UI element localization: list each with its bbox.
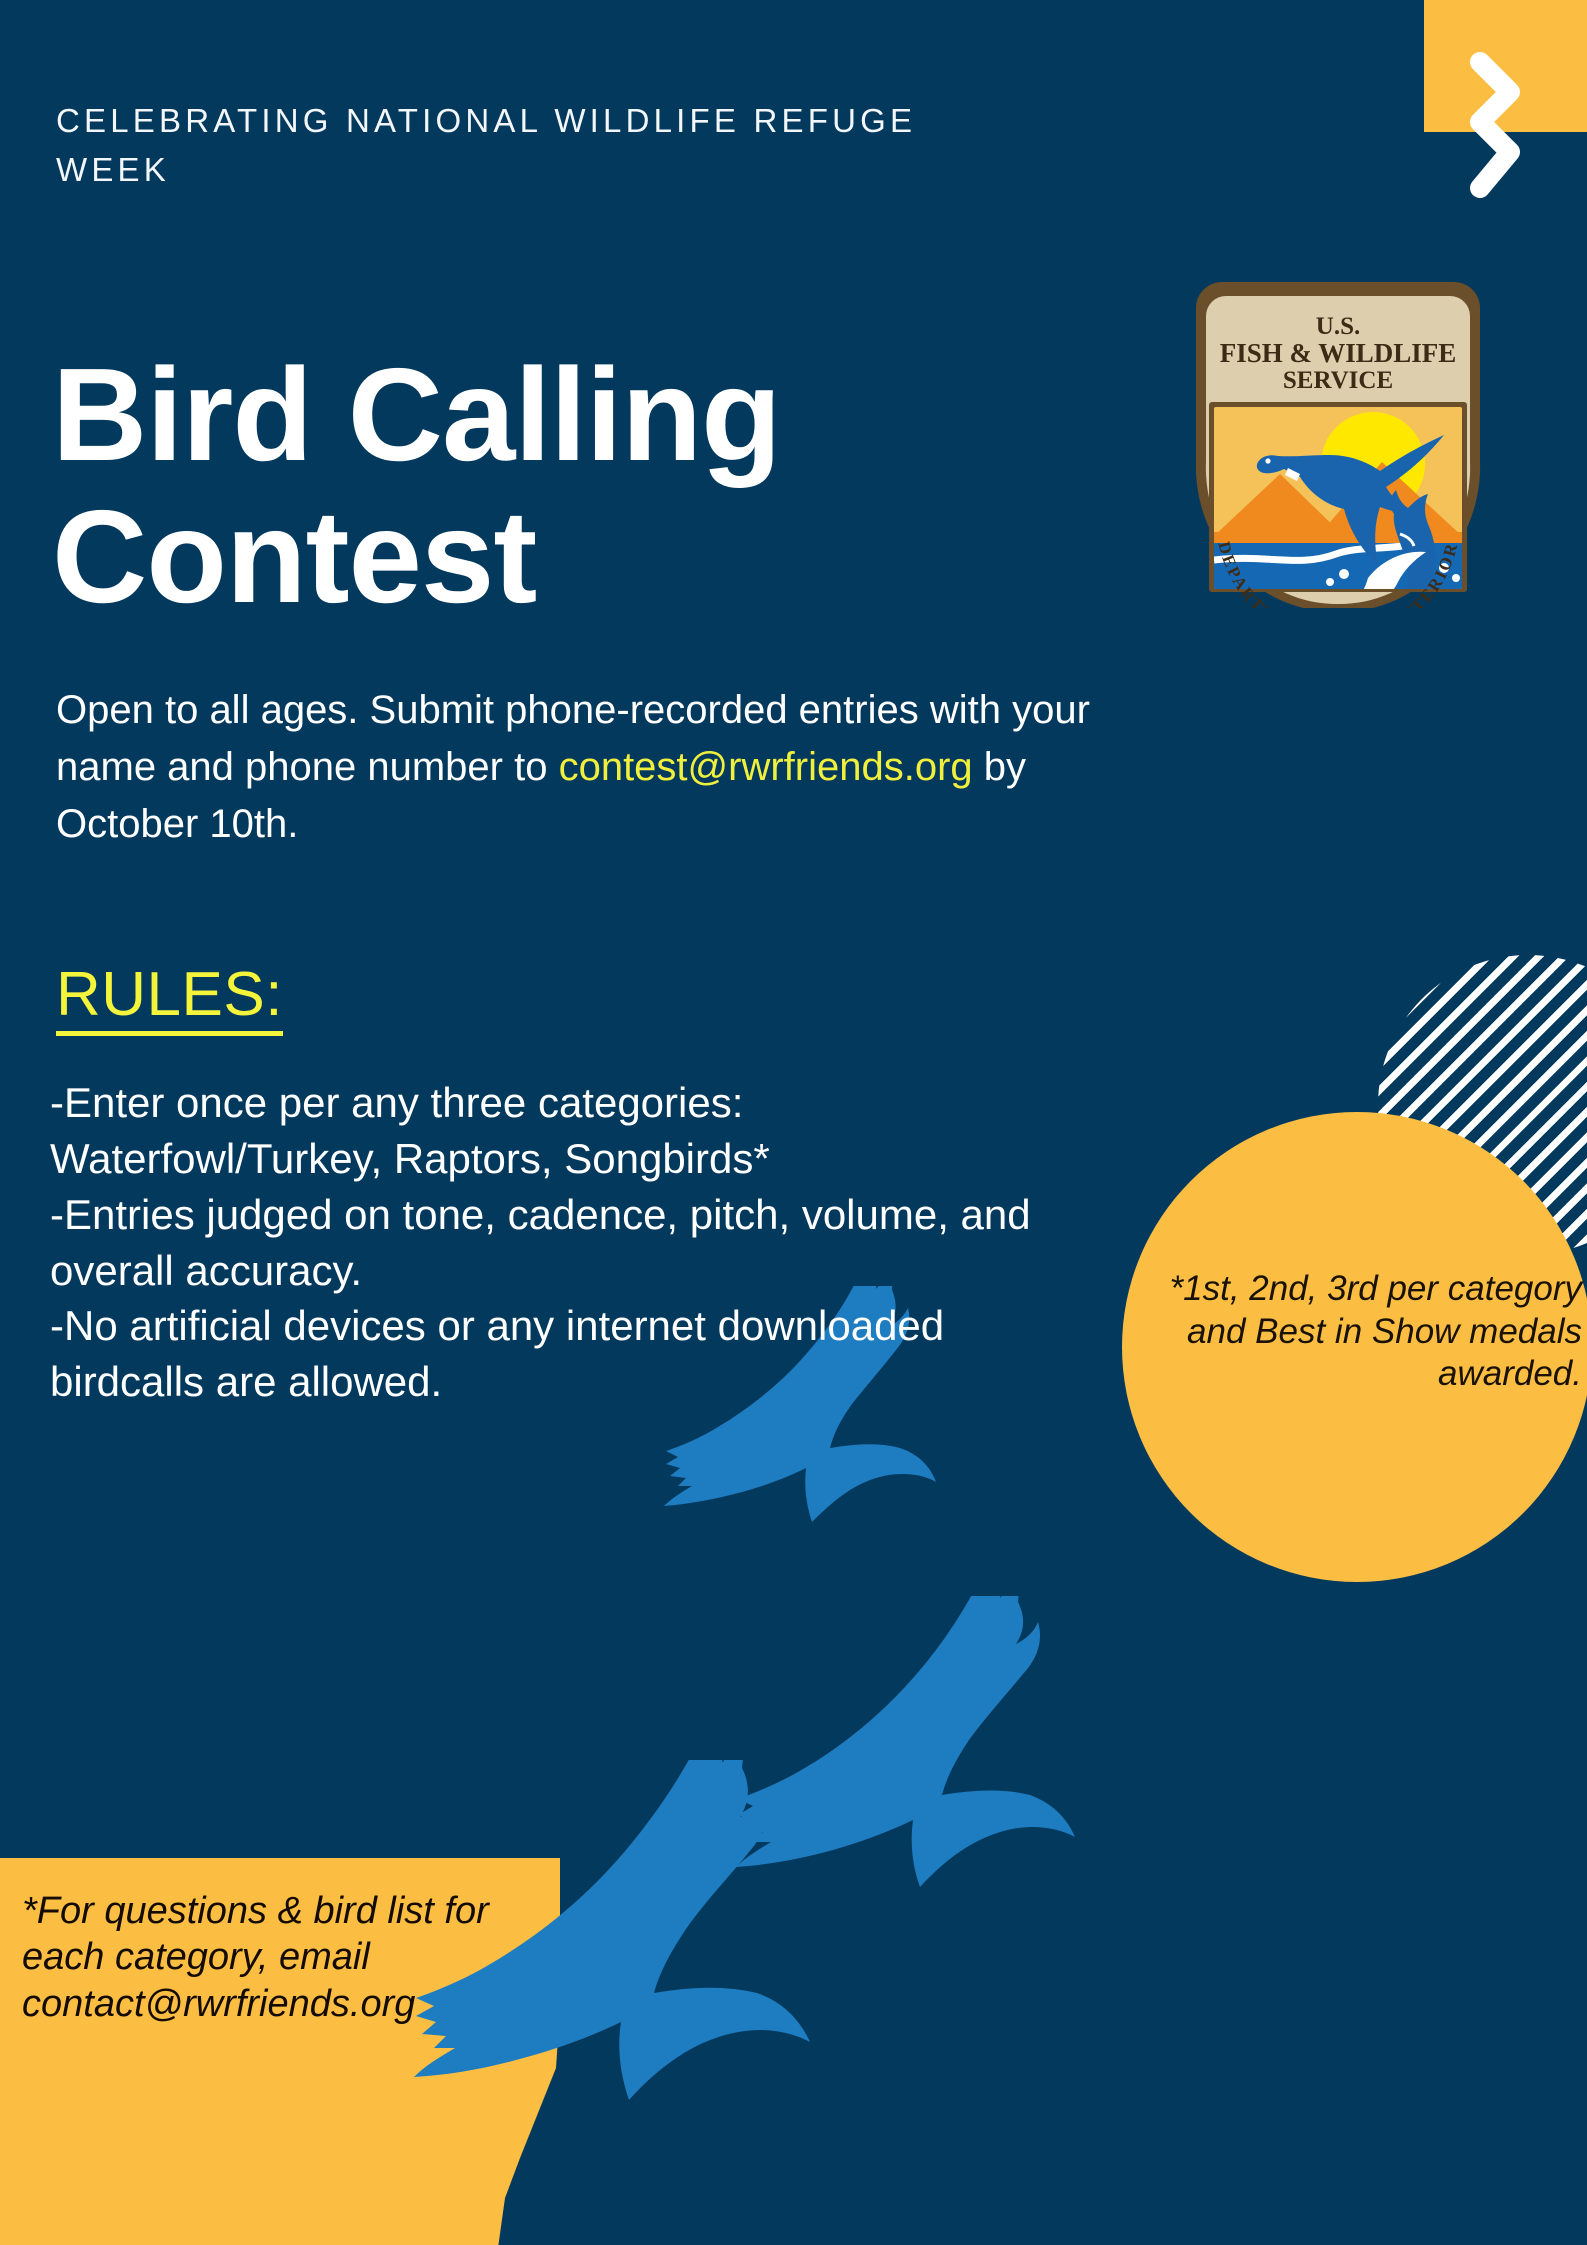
rules-list: -Enter once per any three categories: Wa… bbox=[50, 1075, 1060, 1410]
page-title-line-2: Contest bbox=[52, 483, 536, 630]
page-title-line-1: Bird Calling bbox=[52, 341, 781, 488]
rules-heading: RULES: bbox=[56, 962, 283, 1036]
badge-scene bbox=[1209, 402, 1467, 608]
contact-email[interactable]: contact@rwrfriends.org bbox=[22, 1981, 722, 2027]
footer-note-line-2: each category, email bbox=[22, 1934, 722, 1980]
badge-line-2: FISH & WILDLIFE bbox=[1220, 338, 1457, 368]
rule-item: -Entries judged on tone, cadence, pitch,… bbox=[50, 1187, 1060, 1299]
page-title: Bird Calling Contest bbox=[52, 344, 1132, 626]
contest-email-link[interactable]: contest@rwrfriends.org bbox=[559, 745, 973, 789]
poster-eyebrow: CELEBRATING NATIONAL WILDLIFE REFUGE WEE… bbox=[56, 97, 956, 194]
fws-logo-badge: U.S. FISH & WILDLIFE SERVICE bbox=[1168, 278, 1508, 608]
poster-canvas: CELEBRATING NATIONAL WILDLIFE REFUGE WEE… bbox=[0, 0, 1587, 2245]
badge-line-3: SERVICE bbox=[1283, 367, 1393, 394]
medal-note: *1st, 2nd, 3rd per category and Best in … bbox=[1140, 1268, 1587, 1396]
rule-item: -No artificial devices or any internet d… bbox=[50, 1298, 1060, 1410]
badge-line-1: U.S. bbox=[1316, 313, 1360, 340]
footer-contact-note: *For questions & bird list for each cate… bbox=[22, 1888, 722, 2027]
rule-item: -Enter once per any three categories: Wa… bbox=[50, 1075, 1060, 1187]
poster-content: CELEBRATING NATIONAL WILDLIFE REFUGE WEE… bbox=[0, 0, 1587, 2245]
intro-paragraph: Open to all ages. Submit phone-recorded … bbox=[56, 682, 1146, 854]
footer-note-line-1: *For questions & bird list for bbox=[22, 1888, 722, 1934]
